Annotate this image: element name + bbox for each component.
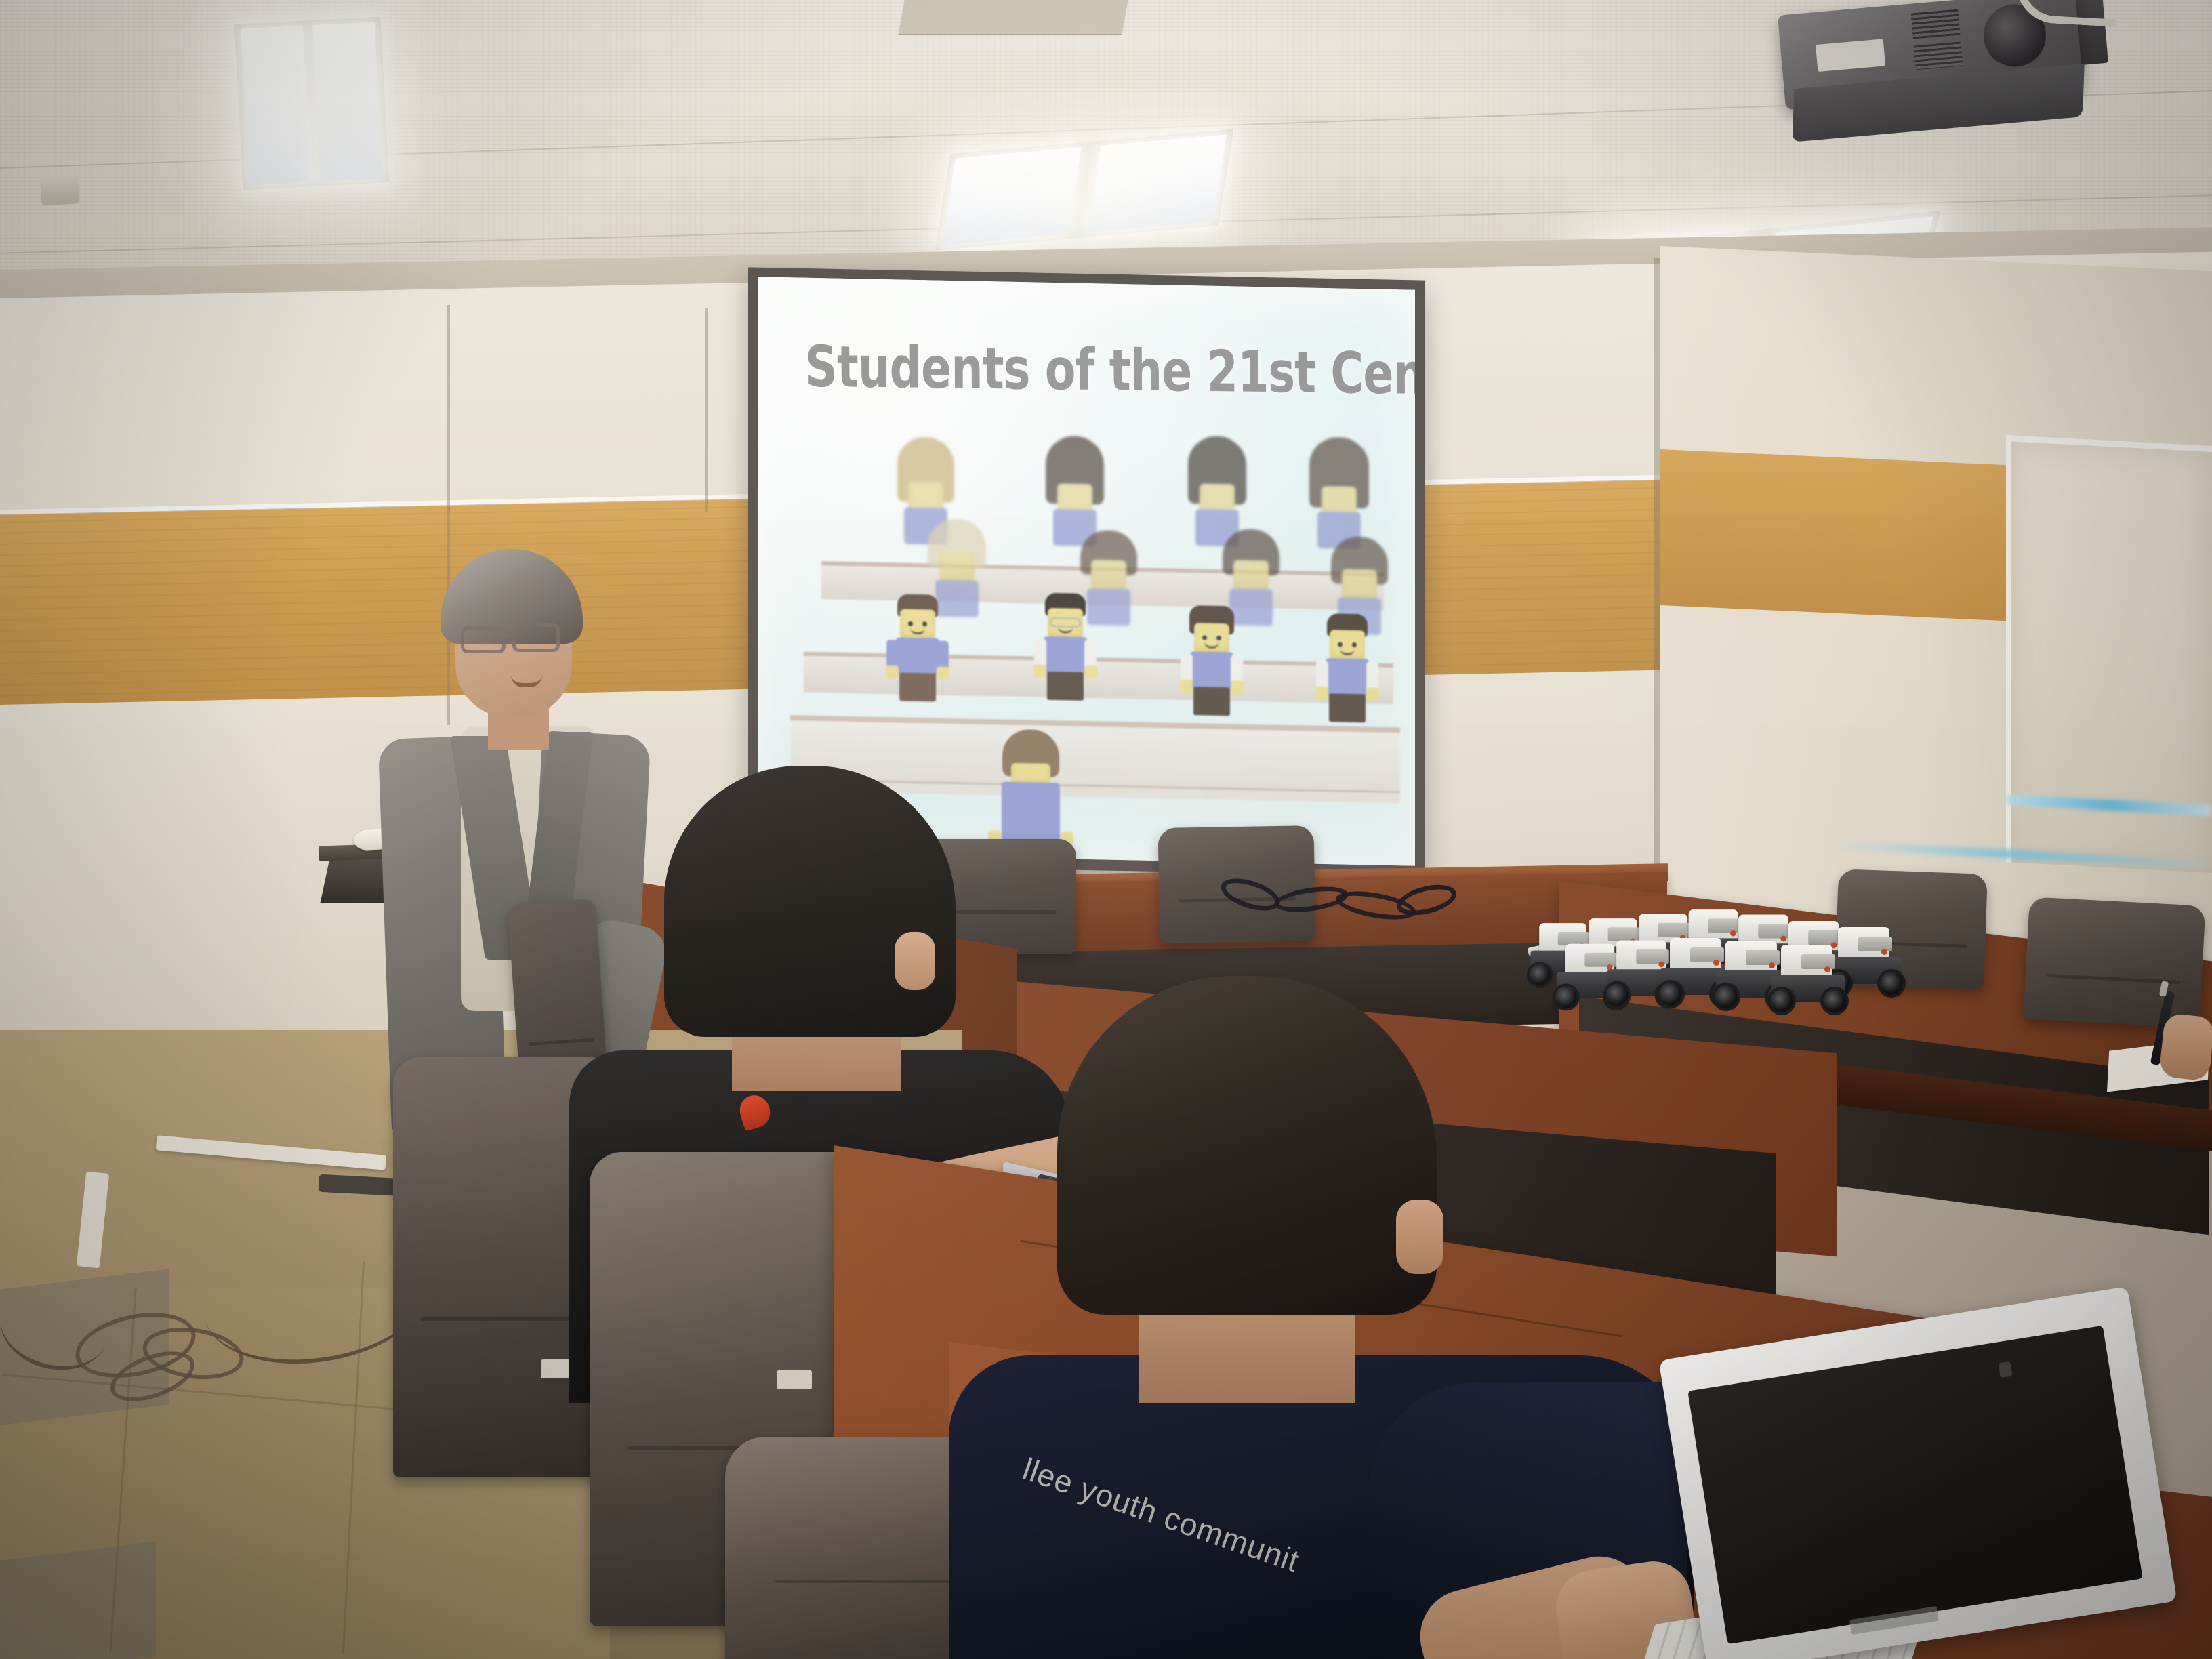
attendee-hair [664, 766, 956, 1037]
glasses-icon [461, 626, 506, 653]
wall-panel-seam [705, 308, 708, 512]
glasses-bridge [504, 634, 516, 638]
projector-vent [1914, 41, 1963, 70]
laptop-white[interactable] [1681, 1322, 2209, 1659]
chair-tag [777, 1370, 812, 1389]
lego-nxt-robot[interactable] [1769, 945, 1847, 1015]
seminar-room-photo: Students of the 21st Century [0, 0, 2212, 1659]
attendee-ear [1396, 1200, 1443, 1274]
attendee-hair [1057, 976, 1437, 1315]
wall-corner [1654, 258, 1660, 942]
projector-vent [1911, 9, 1961, 39]
conference-chair[interactable] [2023, 897, 2205, 1027]
slide-title: Students of the 21st Century [805, 333, 1415, 409]
webcam-icon [1998, 1361, 2012, 1378]
attendee-ear [895, 932, 935, 990]
carpet-tile-accent [0, 1542, 156, 1659]
lego-student-smiling [1313, 613, 1381, 784]
lego-student-ponytail [1178, 605, 1246, 776]
air-vent [898, 0, 1128, 35]
attendee-navy-shirt: llee youth communit [949, 976, 1694, 1659]
lego-student-smiling [884, 594, 951, 764]
glasses-icon [512, 623, 560, 652]
hand-holding-pen [2158, 1012, 2212, 1081]
smoke-detector-icon [40, 173, 80, 206]
